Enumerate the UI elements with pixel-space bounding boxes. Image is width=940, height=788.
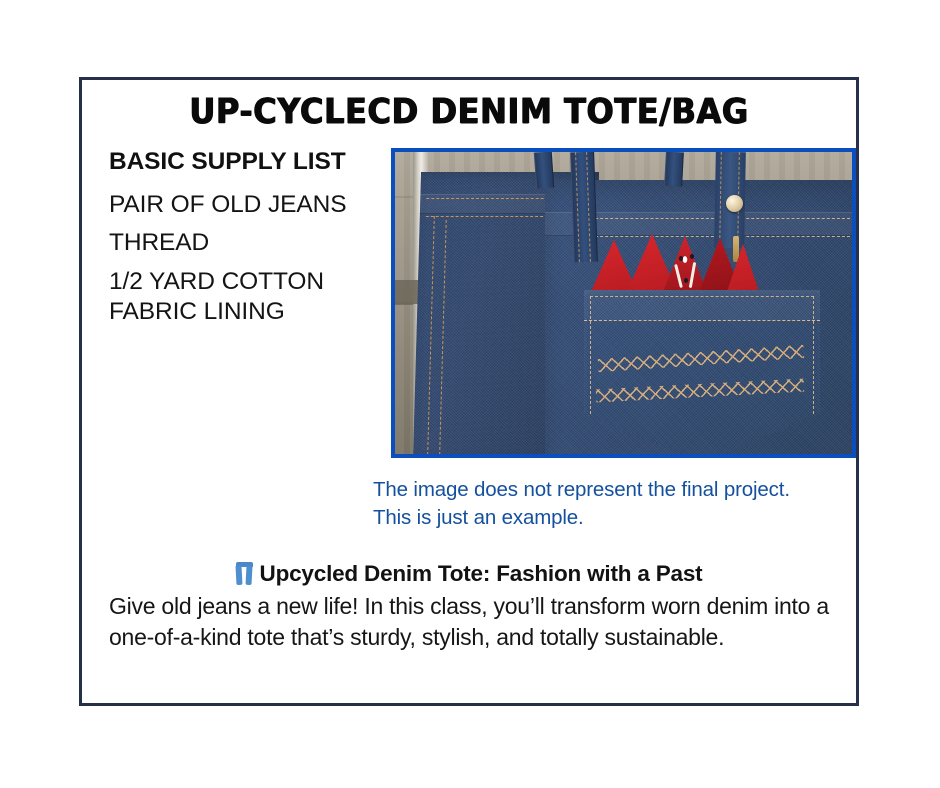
topstitch-line — [439, 220, 447, 454]
lesson-heading: Upcycled Denim Tote: Fashion with a Past — [82, 561, 856, 587]
caption-line-1: The image does not represent the final p… — [373, 476, 843, 504]
caption-line-2: This is just an example. — [373, 504, 843, 532]
lesson-heading-text: Upcycled Denim Tote: Fashion with a Past — [260, 561, 703, 586]
jeans-leg-right — [246, 566, 253, 585]
denim-tote-photo — [391, 148, 856, 458]
handle-stitch — [575, 152, 580, 262]
pocket-hem — [584, 290, 820, 321]
photo-scene — [395, 152, 852, 454]
bag-handle — [664, 152, 684, 186]
supply-list-item: THREAD — [109, 228, 394, 258]
decorative-cross-stitch — [598, 345, 804, 372]
red-bandana — [727, 244, 759, 292]
flyer-frame: UP-CYCLECD DENIM TOTE/BAG BASIC SUPPLY L… — [79, 77, 859, 706]
decorative-cross-stitch — [596, 379, 804, 403]
jeans-leg-left — [236, 566, 243, 585]
supply-list-heading: BASIC SUPPLY LIST — [109, 150, 394, 175]
supply-list-item: 1/2 YARD COTTON FABRIC LINING — [109, 267, 394, 327]
bandana-group — [591, 234, 759, 294]
topstitch-line — [427, 216, 435, 454]
bag-handle — [534, 152, 554, 189]
metal-button — [726, 195, 743, 212]
paisley-bandana — [663, 236, 707, 292]
paisley-detail — [690, 254, 694, 259]
supply-list-item: PAIR OF OLD JEANS — [109, 190, 394, 220]
red-bandana — [591, 240, 637, 292]
jeans-icon — [236, 562, 253, 585]
paisley-detail — [684, 278, 688, 283]
page-title: UP-CYCLECD DENIM TOTE/BAG — [113, 94, 825, 131]
paisley-detail — [679, 256, 683, 261]
lesson-description: Give old jeans a new life! In this class… — [109, 591, 844, 652]
supply-list: BASIC SUPPLY LIST PAIR OF OLD JEANS THRE… — [109, 150, 394, 327]
flyer-content: UP-CYCLECD DENIM TOTE/BAG BASIC SUPPLY L… — [82, 80, 856, 703]
photo-caption: The image does not represent the final p… — [373, 476, 843, 533]
